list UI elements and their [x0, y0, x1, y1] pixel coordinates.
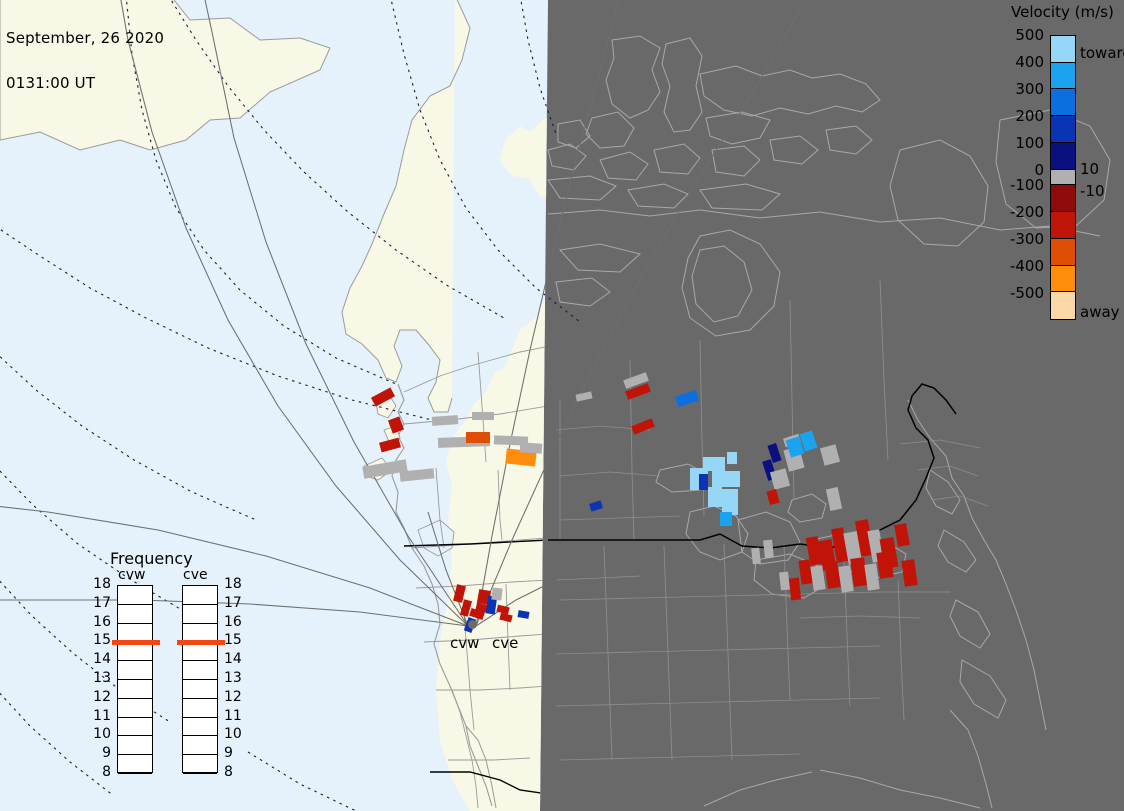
frequency-tick-cve-17: 17 — [224, 595, 242, 611]
gauge-cell — [118, 586, 152, 605]
velocity-cell[interactable] — [491, 588, 502, 601]
frequency-gauge-name-cvw: cvw — [118, 567, 145, 583]
ground-scatter-upper-label: 10 — [1080, 160, 1099, 178]
date-label: September, 26 2020 — [6, 31, 164, 46]
gauge-cell — [118, 699, 152, 718]
velocity-cell[interactable] — [727, 452, 737, 464]
velocity-colorbar[interactable] — [1050, 35, 1076, 320]
gauge-cell — [183, 680, 217, 699]
gauge-cell — [183, 586, 217, 605]
gauge-cell — [118, 718, 152, 737]
day-side — [0, 0, 560, 811]
velocity-cell[interactable] — [432, 415, 459, 426]
colorbar-segment-9 — [1051, 266, 1075, 293]
colorbar-tick-neg300: -300 — [998, 230, 1044, 248]
frequency-tick-cve-10: 10 — [224, 726, 242, 742]
velocity-cell[interactable] — [720, 512, 732, 526]
gauge-cell — [118, 755, 152, 774]
frequency-tick-cve-12: 12 — [224, 689, 242, 705]
gauge-cell — [183, 699, 217, 718]
gauge-cell — [183, 736, 217, 755]
frequency-legend-title: Frequency — [110, 549, 193, 568]
velocity-cell[interactable] — [699, 474, 708, 490]
velocity-cell[interactable] — [703, 457, 725, 471]
colorbar-ground-scatter-band — [1051, 170, 1075, 186]
map-svg — [0, 0, 1124, 811]
velocity-cell[interactable] — [708, 487, 722, 507]
colorbar-tick-neg100: -100 — [998, 176, 1044, 194]
colorbar-segment-2 — [1051, 89, 1075, 116]
frequency-tick-cvw-13: 13 — [89, 670, 111, 686]
gauge-cell — [183, 661, 217, 680]
ground-scatter-lower-label: -10 — [1080, 182, 1105, 200]
site-label-cve: cve — [492, 634, 518, 652]
frequency-tick-cvw-11: 11 — [89, 708, 111, 724]
velocity-cell[interactable] — [763, 540, 774, 559]
frequency-tick-cvw-17: 17 — [89, 595, 111, 611]
colorbar-tick-neg400: -400 — [998, 257, 1044, 275]
frequency-tick-cve-8: 8 — [224, 764, 233, 780]
time-label: 0131:00 UT — [6, 76, 164, 91]
colorbar-segment-6 — [1051, 185, 1075, 212]
frequency-tick-cvw-12: 12 — [89, 689, 111, 705]
colorbar-tick-neg200: -200 — [998, 203, 1044, 221]
colorbar-title: Velocity (m/s) — [1011, 3, 1114, 21]
colorbar-tick-100: 100 — [998, 134, 1044, 152]
colorbar-toward-label: toward — [1080, 44, 1124, 62]
colorbar-segment-10 — [1051, 292, 1075, 319]
gauge-cell — [183, 718, 217, 737]
colorbar-segment-8 — [1051, 239, 1075, 266]
gauge-cell — [183, 605, 217, 624]
frequency-tick-cve-11: 11 — [224, 708, 242, 724]
velocity-cell[interactable] — [520, 442, 543, 454]
colorbar-tick-300: 300 — [998, 80, 1044, 98]
velocity-cell[interactable] — [466, 432, 490, 443]
colorbar-segment-1 — [1051, 63, 1075, 90]
colorbar-segment-3 — [1051, 116, 1075, 143]
radar-site-marker[interactable] — [468, 620, 477, 629]
frequency-tick-cve-18: 18 — [224, 576, 242, 592]
velocity-cell[interactable] — [751, 548, 761, 565]
frequency-tick-cvw-9: 9 — [89, 745, 111, 761]
colorbar-tick-neg500: -500 — [998, 284, 1044, 302]
frequency-tick-cvw-10: 10 — [89, 726, 111, 742]
frequency-gauge-cve[interactable] — [182, 585, 218, 773]
velocity-cell[interactable] — [472, 412, 494, 420]
gauge-cell — [183, 755, 217, 774]
frequency-tick-cvw-18: 18 — [89, 576, 111, 592]
colorbar-away-label: away — [1080, 303, 1120, 321]
frequency-tick-cve-9: 9 — [224, 745, 233, 761]
map-canvas[interactable] — [0, 0, 1124, 811]
frequency-tick-cvw-14: 14 — [89, 651, 111, 667]
colorbar-tick-400: 400 — [998, 53, 1044, 71]
colorbar-tick-500: 500 — [998, 26, 1044, 44]
gauge-cell — [118, 605, 152, 624]
frequency-tick-cvw-15: 15 — [89, 632, 111, 648]
radar-map-screenshot: September, 26 2020 0131:00 UT Velocity (… — [0, 0, 1124, 811]
frequency-tick-cve-13: 13 — [224, 670, 242, 686]
frequency-tick-cvw-8: 8 — [89, 764, 111, 780]
frequency-gauge-cvw[interactable] — [117, 585, 153, 773]
velocity-cell[interactable] — [722, 489, 738, 515]
colorbar-tick-200: 200 — [998, 107, 1044, 125]
colorbar-segment-4 — [1051, 143, 1075, 170]
frequency-tick-cve-16: 16 — [224, 614, 242, 630]
colorbar-segment-7 — [1051, 212, 1075, 239]
frequency-marker-cvw — [112, 640, 160, 645]
gauge-cell — [118, 736, 152, 755]
gauge-cell — [118, 680, 152, 699]
gauge-cell — [118, 661, 152, 680]
frequency-marker-cve — [177, 640, 225, 645]
timestamp-block: September, 26 2020 0131:00 UT — [6, 1, 164, 121]
frequency-tick-cve-15: 15 — [224, 632, 242, 648]
velocity-cell[interactable] — [712, 471, 740, 487]
frequency-tick-cve-14: 14 — [224, 651, 242, 667]
colorbar-segment-0 — [1051, 36, 1075, 63]
velocity-cell[interactable] — [779, 572, 790, 591]
frequency-tick-cvw-16: 16 — [89, 614, 111, 630]
frequency-gauge-name-cve: cve — [183, 567, 208, 583]
site-label-cvw: cvw — [450, 634, 479, 652]
